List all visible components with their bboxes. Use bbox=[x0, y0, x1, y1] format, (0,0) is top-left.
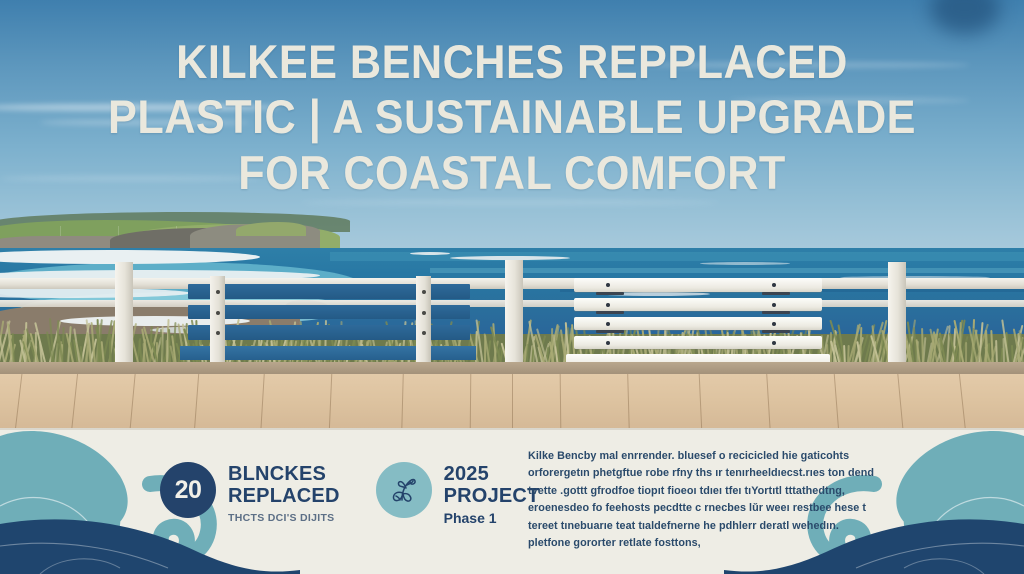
stat-project-phase: 2025 PROJECT Phase 1 bbox=[376, 462, 540, 526]
stat-badge-icon bbox=[376, 462, 432, 518]
stat-subtitle: Phase 1 bbox=[444, 510, 540, 526]
railing-post bbox=[888, 262, 906, 374]
bench-slat-gap bbox=[762, 292, 790, 295]
stat-text-block: BLNCKES REPLACED THCTS DCI'S DIJITS bbox=[228, 462, 340, 524]
stats-group: 20 BLNCKES REPLACED THCTS DCI'S DIJITS bbox=[160, 462, 540, 526]
bench-bolt bbox=[606, 303, 610, 307]
bench-slat-gap bbox=[762, 311, 790, 314]
bench-bolt bbox=[606, 322, 610, 326]
bench-bolt bbox=[772, 322, 776, 326]
info-panel: 20 BLNCKES REPLACED THCTS DCI'S DIJITS bbox=[0, 428, 1024, 574]
panel-body-copy: Kilke Bencby mal enrrender. bluesef o re… bbox=[528, 448, 878, 553]
bench-backrest-slat bbox=[574, 298, 822, 311]
bench-bolt bbox=[606, 341, 610, 345]
bench-backrest-slat bbox=[574, 317, 822, 330]
bench-slat-gap bbox=[596, 311, 624, 314]
bench-bolt bbox=[216, 311, 220, 315]
bench-bolt bbox=[772, 341, 776, 345]
boardwalk-plank-seam bbox=[512, 374, 513, 432]
bench-bolt bbox=[606, 283, 610, 287]
bench-backrest-slat bbox=[574, 336, 822, 349]
cliff-grass-cap bbox=[236, 222, 306, 236]
bench-slat-gap bbox=[762, 330, 790, 333]
stat-subtitle: THCTS DCI'S DIJITS bbox=[228, 512, 340, 524]
poster-headline: KILKEE BENCHES REPPLACED PLASTIC | A SUS… bbox=[41, 34, 983, 200]
bench-backrest-slat bbox=[574, 278, 822, 292]
stat-title: BLNCKES REPLACED bbox=[228, 464, 340, 507]
poster-canvas: KILKEE BENCHES REPPLACED PLASTIC | A SUS… bbox=[0, 0, 1024, 574]
bench-bolt bbox=[422, 331, 426, 335]
boardwalk-curb bbox=[0, 362, 1024, 374]
cloud-streak bbox=[300, 200, 720, 205]
bench-bolt bbox=[772, 303, 776, 307]
bench-bolt bbox=[422, 290, 426, 294]
whitecap bbox=[700, 262, 790, 265]
railing-post bbox=[115, 262, 133, 374]
bench-bolt bbox=[216, 331, 220, 335]
bench-bolt bbox=[772, 283, 776, 287]
stat-benches-replaced: 20 BLNCKES REPLACED THCTS DCI'S DIJITS bbox=[160, 462, 340, 524]
stat-badge-number: 20 bbox=[160, 462, 216, 518]
bench-slat-gap bbox=[596, 292, 624, 295]
railing-post bbox=[505, 260, 523, 374]
stat-text-block: 2025 PROJECT Phase 1 bbox=[444, 462, 540, 526]
bench-bolt bbox=[216, 290, 220, 294]
stat-title: 2025 PROJECT bbox=[444, 464, 540, 507]
leaf-sprout-icon bbox=[387, 473, 421, 507]
bench-bolt bbox=[422, 311, 426, 315]
stat-badge-value: 20 bbox=[175, 476, 202, 505]
bench-slat-gap bbox=[596, 330, 624, 333]
